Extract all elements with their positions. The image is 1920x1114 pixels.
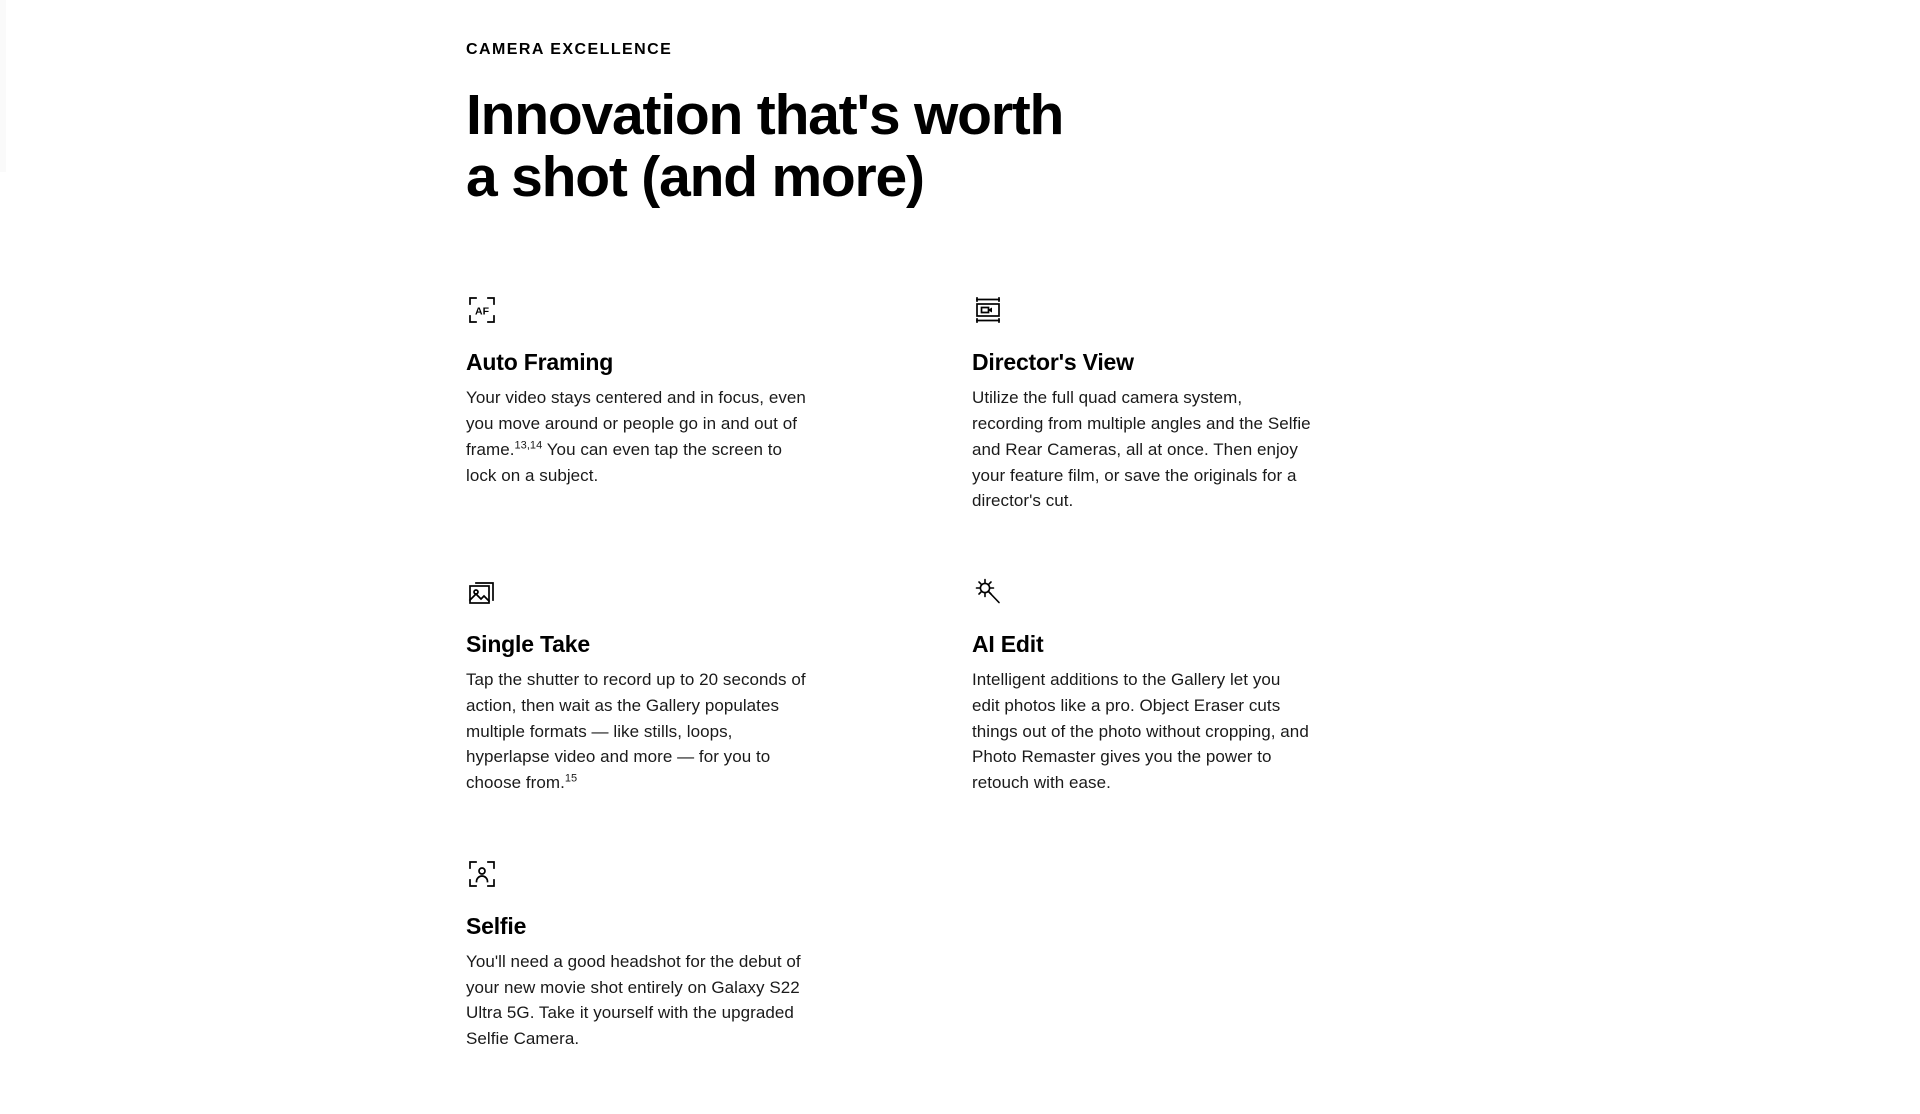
page-title: Innovation that's worth a shot (and more… bbox=[466, 85, 1326, 208]
feature-body-pre: Tap the shutter to record up to 20 secon… bbox=[466, 670, 806, 792]
feature-body: Tap the shutter to record up to 20 secon… bbox=[466, 667, 806, 796]
feature-body: Your video stays centered and in focus, … bbox=[466, 385, 806, 488]
feature-title: AI Edit bbox=[972, 630, 1312, 659]
feature-body-pre: Intelligent additions to the Gallery let… bbox=[972, 670, 1309, 792]
feature-body-pre: You'll need a good headshot for the debu… bbox=[466, 952, 801, 1048]
camera-excellence-section: CAMERA EXCELLENCE Innovation that's wort… bbox=[0, 0, 1920, 1056]
footnote-ref: 15 bbox=[565, 773, 577, 785]
section-eyebrow: CAMERA EXCELLENCE bbox=[466, 40, 1326, 59]
feature-grid: AF Auto Framing Your video stays centere… bbox=[466, 294, 1326, 1114]
feature-body-pre: Utilize the full quad camera system, rec… bbox=[972, 388, 1311, 510]
feature-card-single-take: Single Take Tap the shutter to record up… bbox=[466, 576, 806, 858]
auto-focus-frame-icon: AF bbox=[466, 294, 498, 326]
selfie-portrait-frame-icon bbox=[466, 858, 498, 890]
sun-sparkle-edit-icon bbox=[972, 576, 1004, 608]
feature-title: Selfie bbox=[466, 912, 806, 941]
feature-card-auto-framing: AF Auto Framing Your video stays centere… bbox=[466, 294, 806, 576]
feature-card-directors-view: Director's View Utilize the full quad ca… bbox=[972, 294, 1312, 576]
feature-title: Single Take bbox=[466, 630, 806, 659]
feature-title: Auto Framing bbox=[466, 348, 806, 377]
directors-view-film-icon bbox=[972, 294, 1004, 326]
stacked-photos-icon bbox=[466, 576, 498, 608]
feature-body: Intelligent additions to the Gallery let… bbox=[972, 667, 1312, 796]
feature-card-ai-edit: AI Edit Intelligent additions to the Gal… bbox=[972, 576, 1312, 858]
feature-title: Director's View bbox=[972, 348, 1312, 377]
af-icon-label: AF bbox=[475, 306, 490, 318]
section-content: CAMERA EXCELLENCE Innovation that's wort… bbox=[466, 0, 1326, 1114]
feature-card-selfie: Selfie You'll need a good headshot for t… bbox=[466, 858, 806, 1114]
footnote-ref: 13,14 bbox=[514, 439, 542, 451]
feature-body: You'll need a good headshot for the debu… bbox=[466, 949, 806, 1052]
feature-body: Utilize the full quad camera system, rec… bbox=[972, 385, 1312, 514]
